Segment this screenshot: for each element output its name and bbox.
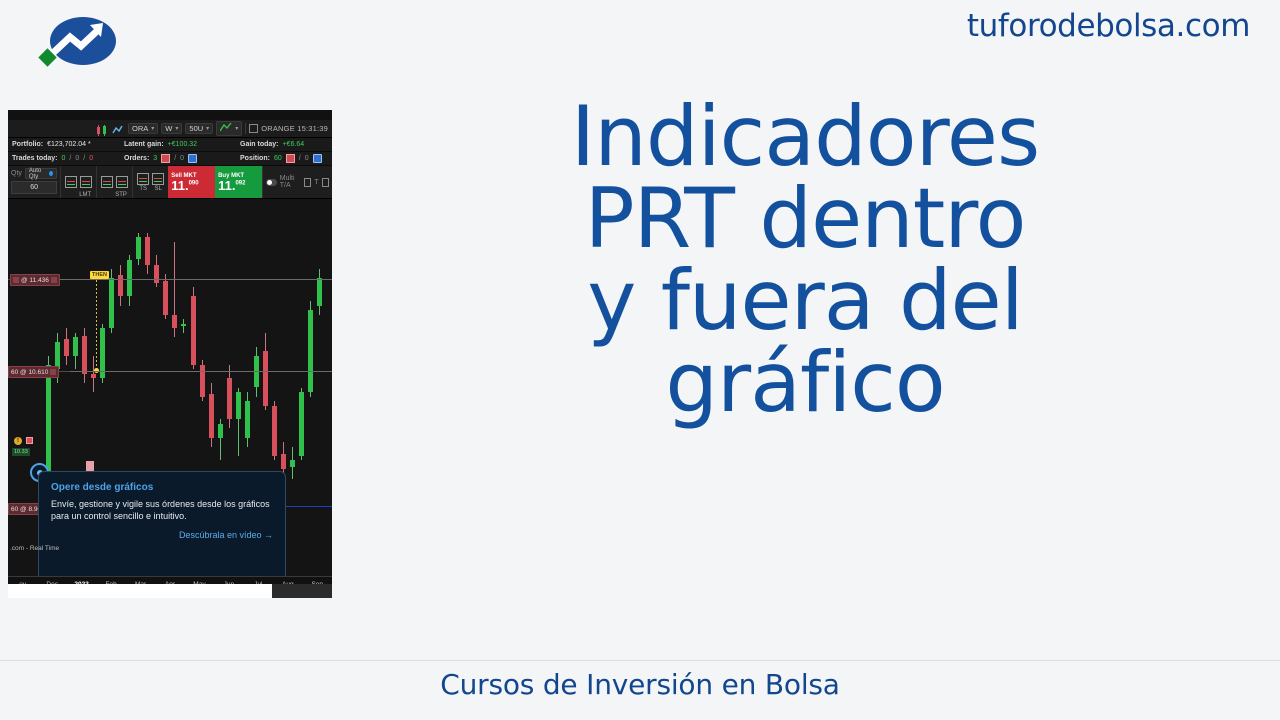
tooltip-body: Envíe, gestione y vigile sus órdenes des… — [51, 499, 273, 523]
then-order-tag[interactable]: THEN — [90, 271, 109, 279]
data-source-label: .com - Real Time — [10, 545, 59, 552]
latent-gain-cell: Latent gain: +€100.32 — [124, 141, 240, 148]
sl-caption: SL — [155, 186, 162, 192]
gain-today-cell: Gain today: +€6.64 — [240, 141, 328, 148]
trades-today-a: 0 — [62, 155, 66, 162]
t-label: T — [314, 179, 318, 186]
stp-buy-icon — [116, 176, 128, 188]
delete-icon[interactable] — [50, 369, 56, 375]
lmt-buy-icon — [80, 176, 92, 188]
instrument-label: ORA — [132, 125, 148, 133]
footer-divider — [0, 660, 1280, 661]
trades-today-b: 0 — [75, 155, 79, 162]
position-sep: / — [299, 155, 301, 162]
title-line-4: gráfico — [665, 342, 944, 424]
gain-today-label: Gain today: — [240, 141, 279, 148]
trailing-stop-group: TS SL — [132, 166, 168, 198]
delete-icon[interactable] — [51, 277, 57, 283]
order-tag-mid-label: 60 @ 10.610 — [11, 369, 48, 376]
buy-order-icon — [188, 154, 197, 163]
title-line-3: y fuera del — [587, 260, 1023, 342]
price-chart[interactable]: THEN @ 11.436 60 @ 10.610 60 @ 8.903 (2.… — [8, 199, 332, 576]
trades-sep-2: / — [83, 155, 85, 162]
stp-sell-icon — [101, 176, 113, 188]
tooltip-title: Opere desde gráficos — [51, 482, 273, 493]
bars-selector[interactable]: 50U▾ — [185, 123, 213, 135]
candlestick-icon[interactable] — [95, 123, 109, 134]
auto-qty-indicator — [49, 171, 53, 176]
latent-gain-label: Latent gain: — [124, 141, 164, 148]
stop-order-group: STP — [96, 166, 132, 198]
position-label: Position: — [240, 155, 270, 162]
position-buy-icon — [313, 154, 322, 163]
trades-today-cell: Trades today: 0 / 0 / 0 — [12, 155, 124, 162]
position-sell-icon — [286, 154, 295, 163]
bars-label: 50U — [189, 125, 203, 133]
then-order-dotted-line — [96, 280, 97, 370]
auto-qty-label: Auto Qty — [29, 168, 47, 180]
position-sell-qty: 60 — [274, 155, 282, 162]
order-level-line-mid — [70, 371, 332, 372]
lmt-sell-icon — [65, 176, 77, 188]
warning-icon[interactable]: ! — [14, 437, 22, 445]
order-mode-toggle[interactable] — [266, 179, 277, 186]
order-marker-square[interactable] — [26, 437, 33, 444]
quantity-header: Qty Auto Qty — [11, 168, 57, 179]
layout-grid-icon[interactable] — [249, 124, 258, 133]
sell-price-dec: 090 — [189, 180, 199, 186]
sl-icon — [152, 173, 164, 185]
orders-buy-count: 0 — [180, 155, 184, 162]
chart-title: ORANGE 15:31:39 — [261, 124, 328, 133]
portfolio-value: €123,702.04 * — [47, 141, 91, 148]
position-cell: Position: 60 / 0 — [240, 154, 328, 163]
lmt-buy-button[interactable] — [80, 176, 92, 188]
title-line-1: Indicadores — [571, 96, 1039, 178]
latent-gain-value: +€100.32 — [168, 141, 197, 148]
instrument-selector[interactable]: ORA▾ — [128, 123, 158, 135]
feature-tooltip: Opere desde gráficos Envíe, gestione y v… — [38, 471, 286, 576]
sell-order-icon — [161, 154, 170, 163]
orders-sell-count: 3 — [153, 155, 157, 162]
stp-sell-button[interactable] — [101, 176, 113, 188]
site-name: tuforodebolsa.com — [967, 8, 1250, 44]
position-buy-qty: 0 — [305, 155, 309, 162]
footer-text: Cursos de Inversión en Bolsa — [0, 668, 1280, 701]
order-entry-toolbar: Qty Auto Qty 60 LMT STP TS — [8, 166, 332, 199]
sl-button[interactable]: SL — [152, 173, 164, 192]
chevron-down-icon: ▾ — [175, 126, 178, 132]
portfolio-cell: Portfolio: €123,702.04 * — [12, 141, 124, 148]
sell-market-button[interactable]: Sell MKT 11.090 — [168, 166, 215, 198]
scrollbar-thumb[interactable] — [272, 584, 332, 598]
toolbar-divider — [245, 123, 246, 134]
indicator-icon[interactable] — [112, 123, 125, 134]
order-level-line-top — [58, 279, 332, 280]
buy-price-int: 11. — [218, 178, 235, 193]
orders-label: Orders: — [124, 155, 149, 162]
horizontal-scrollbar[interactable] — [8, 584, 332, 598]
auto-qty-toggle[interactable]: Auto Qty — [25, 168, 57, 179]
tooltip-video-link[interactable]: Descúbrala en vídeo → — [51, 530, 273, 540]
trades-today-label: Trades today: — [12, 155, 58, 162]
pending-order-box[interactable] — [86, 461, 94, 471]
quantity-section: Qty Auto Qty 60 — [8, 166, 60, 198]
limit-order-group: LMT — [60, 166, 96, 198]
timeframe-label: W — [165, 125, 172, 133]
lmt-sell-button[interactable] — [65, 176, 77, 188]
buy-market-price: 11.092 — [218, 179, 259, 192]
ts-icon — [137, 173, 149, 185]
app-titlebar — [8, 110, 332, 120]
charttype-icon — [220, 123, 232, 134]
sell-market-price: 11.090 — [171, 179, 212, 192]
lmt-caption: LMT — [79, 192, 91, 198]
trading-platform-screenshot: ORA▾ W▾ 50U▾ ▾ ORANGE 15:31:39 Portfolio… — [8, 110, 332, 598]
chevron-down-icon: ▾ — [151, 126, 154, 132]
order-tag-top[interactable]: @ 11.436 — [10, 274, 60, 286]
trades-sep-1: / — [69, 155, 71, 162]
page-header: tuforodebolsa.com — [0, 0, 1280, 100]
order-options-section: Multi T/A T — [262, 166, 332, 198]
charttype-selector[interactable]: ▾ — [216, 121, 242, 136]
chevron-down-icon: ▾ — [206, 126, 209, 132]
chevron-down-icon: ▾ — [235, 126, 238, 132]
quantity-input[interactable]: 60 — [11, 181, 57, 194]
extra-checkbox[interactable] — [322, 178, 329, 187]
sell-price-int: 11. — [171, 178, 188, 193]
page-title: Indicadores PRT dentro y fuera del gráfi… — [455, 96, 1155, 596]
stp-caption: STP — [115, 192, 127, 198]
timeframe-selector[interactable]: W▾ — [161, 123, 182, 135]
account-info-row-1: Portfolio: €123,702.04 * Latent gain: +€… — [8, 138, 332, 152]
multi-ta-label: Multi T/A — [280, 175, 301, 189]
portfolio-label: Portfolio: — [12, 141, 43, 148]
title-line-2: PRT dentro — [585, 178, 1026, 260]
orders-cell: Orders: 3 / 0 — [124, 154, 240, 163]
trades-today-c: 0 — [89, 155, 93, 162]
ts-caption: TS — [139, 186, 147, 192]
t-checkbox[interactable] — [304, 178, 311, 187]
buy-market-button[interactable]: Buy MKT 11.092 — [215, 166, 262, 198]
qty-label: Qty — [11, 170, 22, 177]
buy-price-dec: 092 — [235, 180, 245, 186]
price-level-tag: 10.33 — [12, 448, 30, 456]
stp-buy-button[interactable] — [116, 176, 128, 188]
order-tag-top-label: @ 11.436 — [21, 277, 49, 284]
order-tag-mid[interactable]: 60 @ 10.610 — [8, 366, 59, 378]
chart-toolbar: ORA▾ W▾ 50U▾ ▾ ORANGE 15:31:39 — [8, 120, 332, 138]
close-icon[interactable] — [13, 277, 19, 283]
ts-button[interactable]: TS — [137, 173, 149, 192]
orders-sep: / — [174, 155, 176, 162]
tuforodebolsa-logo — [35, 13, 125, 75]
account-info-row-2: Trades today: 0 / 0 / 0 Orders: 3 / 0 Po… — [8, 152, 332, 166]
gain-today-value: +€6.64 — [283, 141, 305, 148]
